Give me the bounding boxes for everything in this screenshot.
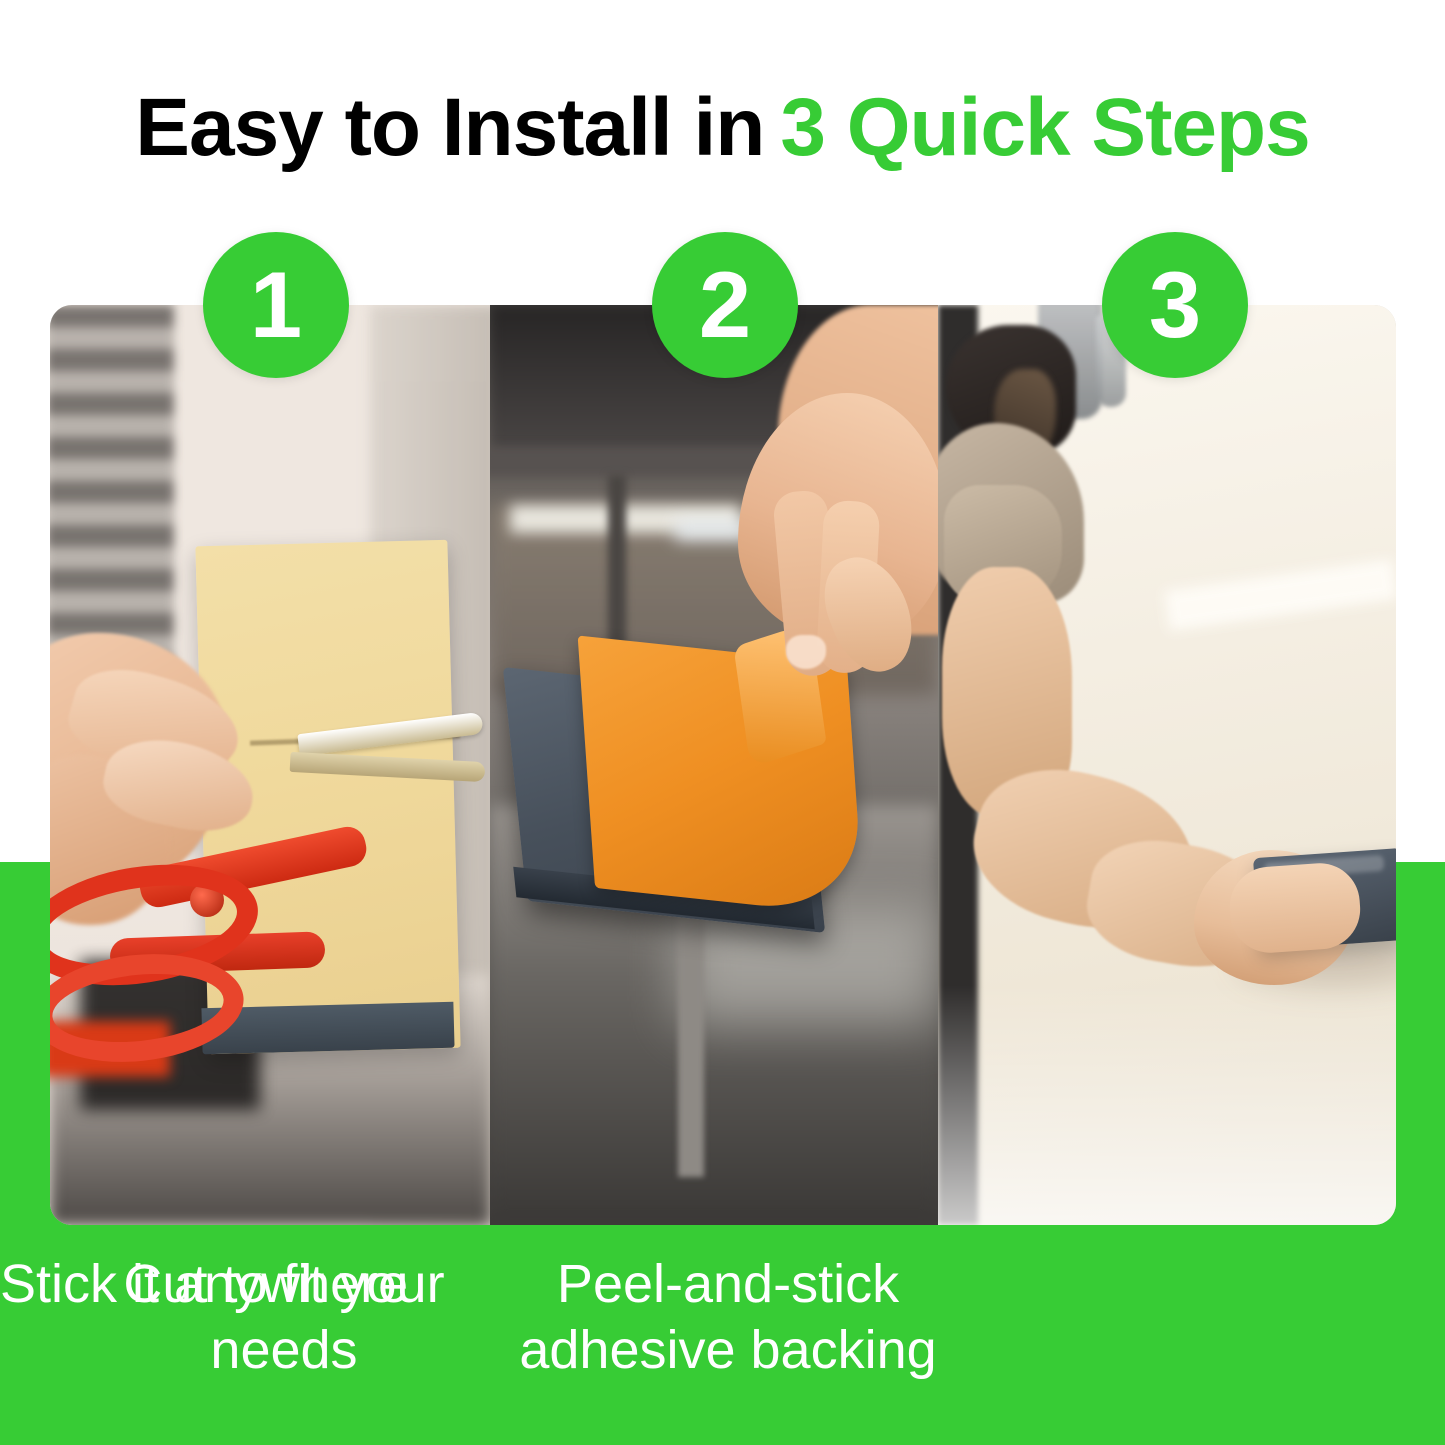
step-photo-3: [938, 305, 1396, 1225]
panel3-fingers: [1227, 861, 1363, 956]
step-caption-2: Peel-and-stick adhesive backing: [498, 1252, 958, 1384]
infographic-page: Easy to Install in 3 Quick Steps: [0, 0, 1445, 1445]
panel2-fingernail: [786, 635, 826, 669]
page-title: Easy to Install in 3 Quick Steps: [0, 78, 1445, 178]
step-badge-2: 2: [652, 232, 798, 378]
step-photo-strip: [50, 305, 1396, 1225]
step-photo-2: [490, 305, 938, 1225]
panel3-bottom-glow: [938, 985, 1396, 1225]
step-badge-1: 1: [203, 232, 349, 378]
title-accent-text: 3 Quick Steps: [780, 87, 1309, 169]
step-badge-3: 3: [1102, 232, 1248, 378]
panel2-table-stem: [678, 917, 704, 1177]
step-photo-1: [50, 305, 490, 1225]
step-caption-3: Stick it anywhere: [0, 1252, 408, 1318]
panel2-orange-adhesive-liner: [578, 635, 865, 916]
title-lead-text: Easy to Install in: [135, 87, 764, 169]
